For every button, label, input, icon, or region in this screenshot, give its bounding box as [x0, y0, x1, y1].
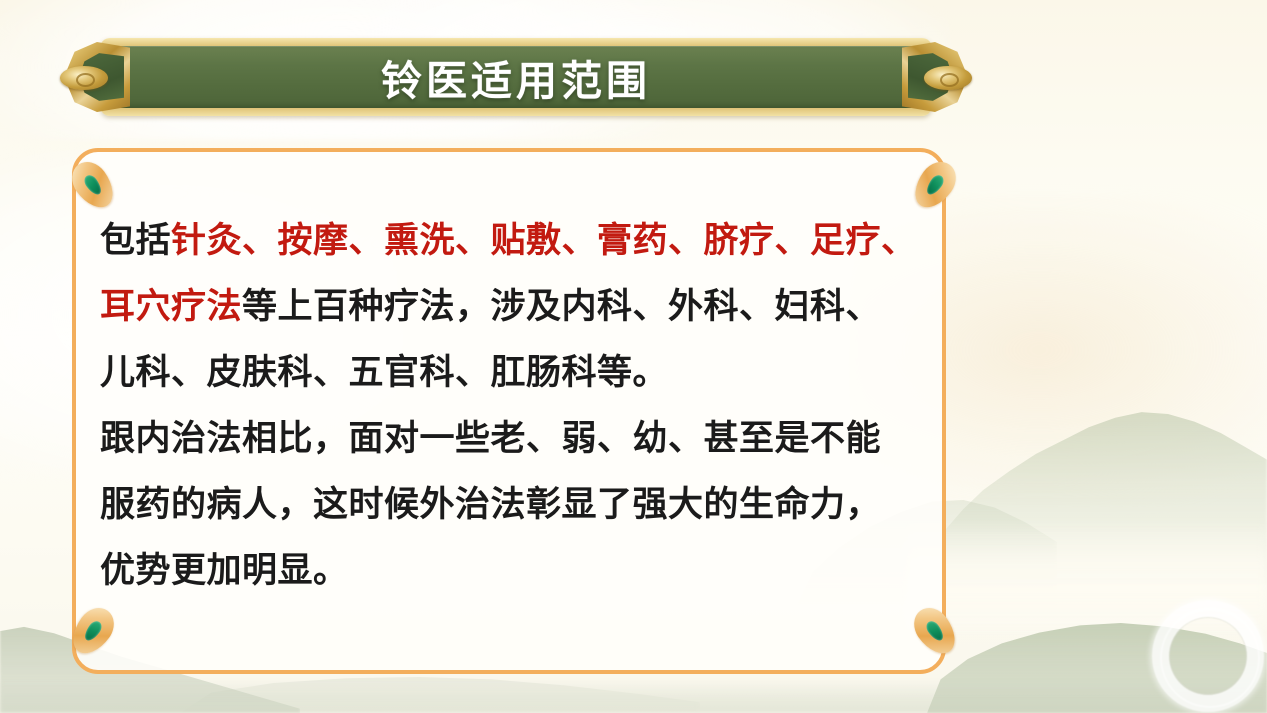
page-title: 铃医适用范围 [381, 47, 651, 107]
banner-scroll-left-ornament [58, 38, 136, 116]
body-plain-text: 跟内治法相比，面对一些老、弱、幼、甚至是不能 [100, 419, 881, 458]
ground-strip-bottom [0, 679, 1267, 713]
body-highlight-text: 耳穴疗法 [100, 287, 242, 326]
body-plain-text: 服药的病人，这时候外治法彰显了强大的生命力， [100, 485, 881, 524]
body-plain-text: 等上百种疗法，涉及内科、外科、妇科、 [242, 287, 881, 326]
body-line: 服药的病人，这时候外治法彰显了强大的生命力， [100, 472, 944, 538]
body-plain-text: 优势更加明显。 [100, 551, 349, 590]
body-line: 包括针灸、按摩、熏洗、贴敷、膏药、脐疗、足疗、 [100, 208, 944, 274]
body-line: 跟内治法相比，面对一些老、弱、幼、甚至是不能 [100, 406, 944, 472]
banner-medallion-left-icon [60, 66, 108, 90]
banner-medallion-right-icon [924, 66, 972, 90]
body-plain-text: 儿科、皮肤科、五官科、肛肠科等。 [100, 353, 668, 392]
banner-plate-inner: 铃医适用范围 [109, 46, 923, 108]
ring-seal-watermark-icon [1152, 600, 1264, 712]
body-highlight-text: 针灸、按摩、熏洗、贴敷、膏药、脐疗、足疗、 [171, 221, 917, 260]
title-banner: 铃医适用范围 [62, 38, 970, 116]
banner-plate: 铃医适用范围 [100, 38, 932, 116]
body-line: 优势更加明显。 [100, 538, 944, 604]
banner-scroll-right-ornament [896, 38, 974, 116]
slide-canvas: 铃医适用范围 包括针灸、按摩、熏洗、贴敷、膏药、脐疗、足疗、耳穴疗法等上百种疗法… [0, 0, 1267, 713]
body-line: 耳穴疗法等上百种疗法，涉及内科、外科、妇科、 [100, 274, 944, 340]
body-plain-text: 包括 [100, 221, 171, 260]
body-line: 儿科、皮肤科、五官科、肛肠科等。 [100, 340, 944, 406]
body-text-block: 包括针灸、按摩、熏洗、贴敷、膏药、脐疗、足疗、耳穴疗法等上百种疗法，涉及内科、外… [100, 208, 944, 604]
